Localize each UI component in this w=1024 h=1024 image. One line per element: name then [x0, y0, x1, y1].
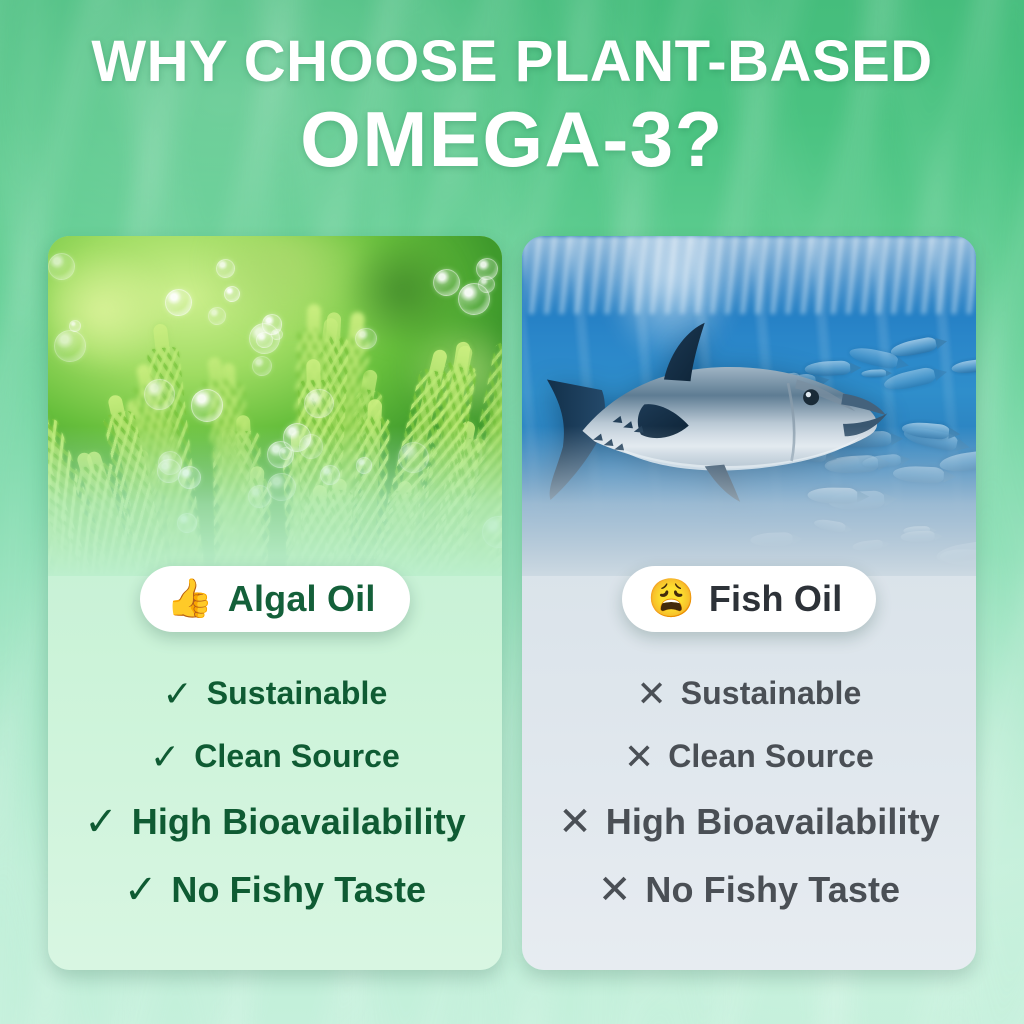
list-item: ✕ Sustainable: [637, 675, 862, 712]
feature-label: Sustainable: [681, 675, 862, 712]
feature-label: High Bioavailability: [606, 801, 940, 843]
badge-wrap-algal-oil: 👍 Algal Oil: [48, 566, 502, 632]
cross-mark-icon: ✕: [558, 802, 592, 842]
cross-mark-icon: ✕: [624, 739, 654, 775]
thumbs-up-heart-emoji: 👍: [166, 580, 213, 618]
tuna-eye: [803, 389, 819, 405]
feature-label: Clean Source: [194, 738, 400, 775]
water-bubble: [144, 379, 174, 409]
comparison-cards: 👍 Algal Oil ✓ Sustainable ✓ Clean Source…: [48, 236, 976, 970]
check-mark-icon: ✓: [124, 870, 158, 910]
infographic-canvas: WHY CHOOSE PLANT-BASED OMEGA-3? 👍 Algal …: [0, 0, 1024, 1024]
water-bubble: [54, 330, 85, 361]
school-fish: [950, 358, 976, 375]
tuna-eye-highlight: [806, 392, 811, 397]
water-bubble: [355, 328, 377, 350]
badge-wrap-fish-oil: 😩 Fish Oil: [522, 566, 976, 632]
water-bubble: [458, 283, 490, 315]
feature-label: Sustainable: [207, 675, 388, 712]
badge-label-fish-oil: Fish Oil: [709, 578, 843, 620]
feature-list-fish-oil: ✕ Sustainable ✕ Clean Source ✕ High Bioa…: [522, 576, 976, 970]
water-bubble: [304, 389, 334, 419]
tuna-underwater-photo: [522, 236, 976, 576]
list-item: ✓ High Bioavailability: [84, 801, 466, 843]
photo-fade-overlay: [522, 426, 976, 576]
list-item: ✕ High Bioavailability: [558, 801, 940, 843]
badge-fish-oil[interactable]: 😩 Fish Oil: [622, 566, 877, 632]
card-algal-oil[interactable]: 👍 Algal Oil ✓ Sustainable ✓ Clean Source…: [48, 236, 502, 970]
list-item: ✓ Sustainable: [163, 675, 388, 712]
water-bubble: [191, 389, 224, 422]
list-item: ✕ Clean Source: [624, 738, 874, 775]
feature-label: No Fishy Taste: [171, 869, 426, 911]
photo-fade-overlay: [48, 426, 502, 576]
water-bubble: [249, 323, 280, 354]
water-bubble: [208, 307, 226, 325]
water-bubble: [224, 286, 240, 302]
page-title-line-1: WHY CHOOSE PLANT-BASED: [0, 30, 1024, 94]
badge-algal-oil[interactable]: 👍 Algal Oil: [140, 566, 409, 632]
badge-label-algal-oil: Algal Oil: [228, 578, 376, 620]
card-fish-oil[interactable]: 😩 Fish Oil ✕ Sustainable ✕ Clean Source …: [522, 236, 976, 970]
algae-bubbles-photo: [48, 236, 502, 576]
weary-face-emoji: 😩: [648, 580, 695, 618]
check-mark-icon: ✓: [150, 739, 180, 775]
list-item: ✓ Clean Source: [150, 738, 400, 775]
page-title: WHY CHOOSE PLANT-BASED OMEGA-3?: [0, 30, 1024, 182]
page-title-line-2: OMEGA-3?: [0, 96, 1024, 182]
list-item: ✕ No Fishy Taste: [598, 869, 900, 911]
cross-mark-icon: ✕: [637, 676, 667, 712]
feature-label: No Fishy Taste: [645, 869, 900, 911]
list-item: ✓ No Fishy Taste: [124, 869, 426, 911]
water-bubble: [476, 258, 498, 280]
feature-label: Clean Source: [668, 738, 874, 775]
feature-label: High Bioavailability: [132, 801, 466, 843]
feature-list-algal-oil: ✓ Sustainable ✓ Clean Source ✓ High Bioa…: [48, 576, 502, 970]
cross-mark-icon: ✕: [598, 870, 632, 910]
check-mark-icon: ✓: [84, 802, 118, 842]
water-bubble: [165, 289, 192, 316]
check-mark-icon: ✓: [163, 676, 193, 712]
